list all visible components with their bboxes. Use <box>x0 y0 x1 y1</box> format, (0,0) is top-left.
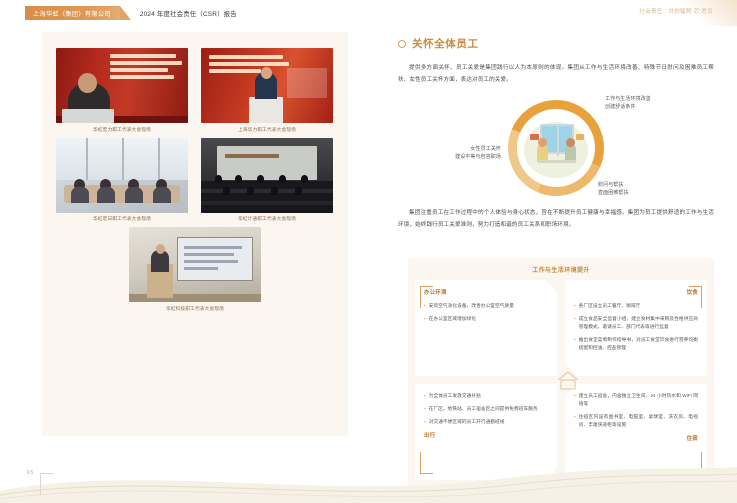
report-page: 上海华虹（集团）有限公司 2024 年度社会责任（CSR）报告 社会责任：共创辐… <box>0 0 737 503</box>
card-bullets: ▪ 安装空气净化设备，改善办公室空气质量 ▪ 在办公室区域增加绿化 <box>424 302 548 323</box>
bullet-dot-icon: ▪ <box>424 392 426 400</box>
company-tab-label: 上海华虹（集团）有限公司 <box>33 9 111 18</box>
photo-row: 华虹宏日职工代表大会现场 华虹计通职工代表大会现场 <box>56 138 334 223</box>
section-heading: 关怀全体员工 <box>398 36 714 51</box>
bullet-item: ▪ 对交通不便区域的员工开行通勤班线 <box>424 418 548 426</box>
photo-caption: 华虹宏力职工代表大会现场 <box>56 127 188 133</box>
bullet-item: ▪ 在厂区、地铁站、员工宿舍区之间提供免费班车服务 <box>424 405 548 413</box>
ring-bullet-icon <box>398 40 406 48</box>
bullet-item: ▪ 各厂区设立员工餐厅、咖啡厅 <box>574 302 698 310</box>
card-title: 饮食 <box>574 288 698 296</box>
card-office-environment: 办公环境 ▪ 安装空气净化设备，改善办公室空气质量 ▪ 在办公室区域增加绿化 <box>415 280 557 376</box>
card-bullets: ▪ 建立员工宿舍，内含独立卫生间、24 小时热水和 WiFi 网络等 ▪ 住宿区… <box>574 392 698 429</box>
bullet-dot-icon: ▪ <box>424 405 426 413</box>
page-header: 上海华虹（集团）有限公司 2024 年度社会责任（CSR）报告 社会责任：共创辐… <box>0 0 737 26</box>
work-life-panel: 工作与生活环境提升 办公环境 ▪ 安装空气净化设备，改善办公室空气质量 ▪ 在办… <box>408 258 714 490</box>
diagram-label-line2: 直面困难帮扶 <box>598 190 629 198</box>
photo-panel: 华虹宏力职工代表大会现场 上海华力职工代表大会现场 <box>42 32 348 436</box>
photo-cell: 华虹计通职工代表大会现场 <box>201 138 333 223</box>
bullet-item: ▪ 建立员工宿舍，内含独立卫生间、24 小时热水和 WiFi 网络等 <box>574 392 698 408</box>
section-paragraph-2: 集团注重员工在工作过程中的个人体验与身心状态，旨在不断提升员工健康与幸福感。集团… <box>398 208 714 231</box>
photo-image <box>56 48 188 123</box>
bullet-item: ▪ 住宿区内设有图书室、电脑室、桌球室、洗衣房、电视房、丰巢快递柜等设施 <box>574 413 698 429</box>
circle-diagram: 工作与生活环境改善 创建舒适条件 慰问与帮扶 直面困难帮扶 女性员工关怀 建设平… <box>398 94 714 206</box>
photo-image <box>201 48 333 123</box>
photo-grid: 华虹宏力职工代表大会现场 上海华力职工代表大会现场 <box>56 48 334 317</box>
diagram-label-line2: 创建舒适条件 <box>605 104 651 112</box>
bullet-dot-icon: ▪ <box>574 336 576 352</box>
bracket-decoration <box>420 286 433 308</box>
work-life-panel-title: 工作与生活环境提升 <box>408 258 714 274</box>
photo-image <box>129 227 261 302</box>
bullet-dot-icon: ▪ <box>574 413 576 429</box>
bullet-item: ▪ 在办公室区域增加绿化 <box>424 315 548 323</box>
bullet-dot-icon: ▪ <box>574 315 576 331</box>
photo-image <box>201 138 333 213</box>
bullet-dot-icon: ▪ <box>424 418 426 426</box>
photo-cell: 华虹科技职工代表大会现场 <box>129 227 261 312</box>
photo-cell: 华虹宏力职工代表大会现场 <box>56 48 188 133</box>
company-tab: 上海华虹（集团）有限公司 <box>25 6 120 20</box>
bullet-dot-icon: ▪ <box>574 392 576 408</box>
card-title: 办公环境 <box>424 288 548 296</box>
photo-caption: 上海华力职工代表大会现场 <box>201 127 333 133</box>
page-rule-horizontal <box>40 473 54 474</box>
photo-image <box>56 138 188 213</box>
house-icon <box>555 368 581 392</box>
diagram-label-line1: 工作与生活环境改善 <box>605 96 651 104</box>
page-rule-vertical <box>40 473 41 495</box>
diagram-illustration <box>520 112 592 184</box>
photo-caption: 华虹宏日职工代表大会现场 <box>56 216 188 222</box>
page-number: 65 <box>27 470 34 476</box>
bullet-item: ▪ 推出食堂菜肴制作指导书，对员工食堂饮食进行营养均衡搭配和控油、控盐管理 <box>574 336 698 352</box>
photo-caption: 华虹计通职工代表大会现场 <box>201 216 333 222</box>
bullet-dot-icon: ▪ <box>574 302 576 310</box>
diagram-label-bottom-right: 慰问与帮扶 直面困难帮扶 <box>598 182 629 197</box>
photo-cell: 华虹宏日职工代表大会现场 <box>56 138 188 223</box>
bullet-item: ▪ 为全体员工发放交通补贴 <box>424 392 548 400</box>
card-bullets: ▪ 为全体员工发放交通补贴 ▪ 在厂区、地铁站、员工宿舍区之间提供免费班车服务 … <box>424 392 548 426</box>
photo-row: 华虹科技职工代表大会现场 <box>56 227 334 312</box>
card-title: 出行 <box>424 431 548 439</box>
diagram-label-line1: 女性员工关怀 <box>411 146 501 154</box>
document-title: 2024 年度社会责任（CSR）报告 <box>140 9 237 18</box>
footer-decoration <box>0 457 737 503</box>
section-paragraph-1: 提供多方面关怀、员工关爱是集团践行以人为本原则的体现。集团从工作与生活环境改善、… <box>398 63 714 86</box>
bracket-decoration <box>689 286 702 308</box>
photo-cell: 上海华力职工代表大会现场 <box>201 48 333 133</box>
bullet-item: ▪ 安装空气净化设备，改善办公室空气质量 <box>424 302 548 310</box>
diagram-label-left: 女性员工关怀 建设平等与包容职场 <box>411 146 501 161</box>
section-title: 关怀全体员工 <box>412 36 479 51</box>
corner-decoration <box>679 0 737 26</box>
card-dining: 饮食 ▪ 各厂区设立员工餐厅、咖啡厅 ▪ 成立食品安全监督小组，建立食材集中采购… <box>565 280 707 376</box>
photo-caption: 华虹科技职工代表大会现场 <box>129 306 261 312</box>
diagram-label-top-right: 工作与生活环境改善 创建舒适条件 <box>605 96 651 111</box>
content-column: 关怀全体员工 提供多方面关怀、员工关爱是集团践行以人为本原则的体现。集团从工作与… <box>398 36 714 231</box>
card-title: 住宿 <box>574 434 698 442</box>
photo-row: 华虹宏力职工代表大会现场 上海华力职工代表大会现场 <box>56 48 334 133</box>
diagram-label-line2: 建设平等与包容职场 <box>411 154 501 162</box>
diagram-label-line1: 慰问与帮扶 <box>598 182 629 190</box>
bullet-item: ▪ 成立食品安全监督小组，建立食材集中采购及合格供应商管理模式，邀请员工、部门代… <box>574 315 698 331</box>
bullet-dot-icon: ▪ <box>424 315 426 323</box>
card-bullets: ▪ 各厂区设立员工餐厅、咖啡厅 ▪ 成立食品安全监督小组，建立食材集中采购及合格… <box>574 302 698 352</box>
card-row: 办公环境 ▪ 安装空气净化设备，改善办公室空气质量 ▪ 在办公室区域增加绿化 <box>415 280 707 376</box>
